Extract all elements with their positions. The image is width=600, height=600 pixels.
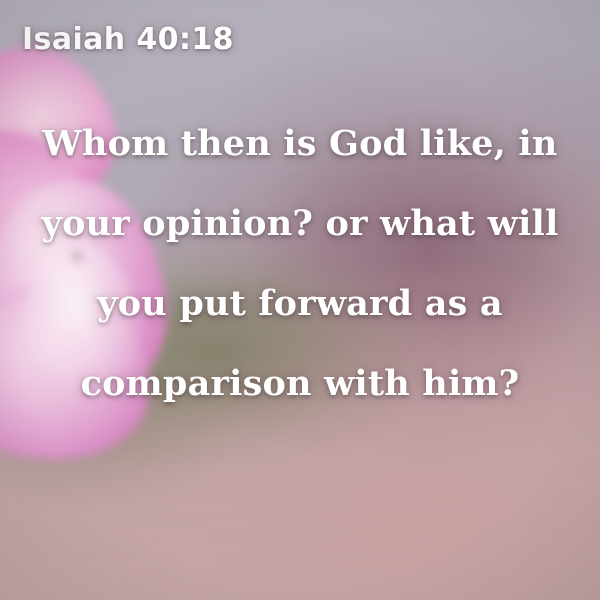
verse-line: you put forward as a [0, 264, 600, 344]
verse-reference: Isaiah 40:18 [22, 22, 234, 57]
verse-line: comparison with him? [0, 344, 600, 424]
verse-body: Whom then is God like, in your opinion? … [0, 104, 600, 424]
verse-line: Whom then is God like, in [0, 104, 600, 184]
verse-line: your opinion? or what will [0, 184, 600, 264]
verse-image-card: Isaiah 40:18 Whom then is God like, in y… [0, 0, 600, 600]
text-overlay: Isaiah 40:18 Whom then is God like, in y… [0, 0, 600, 600]
